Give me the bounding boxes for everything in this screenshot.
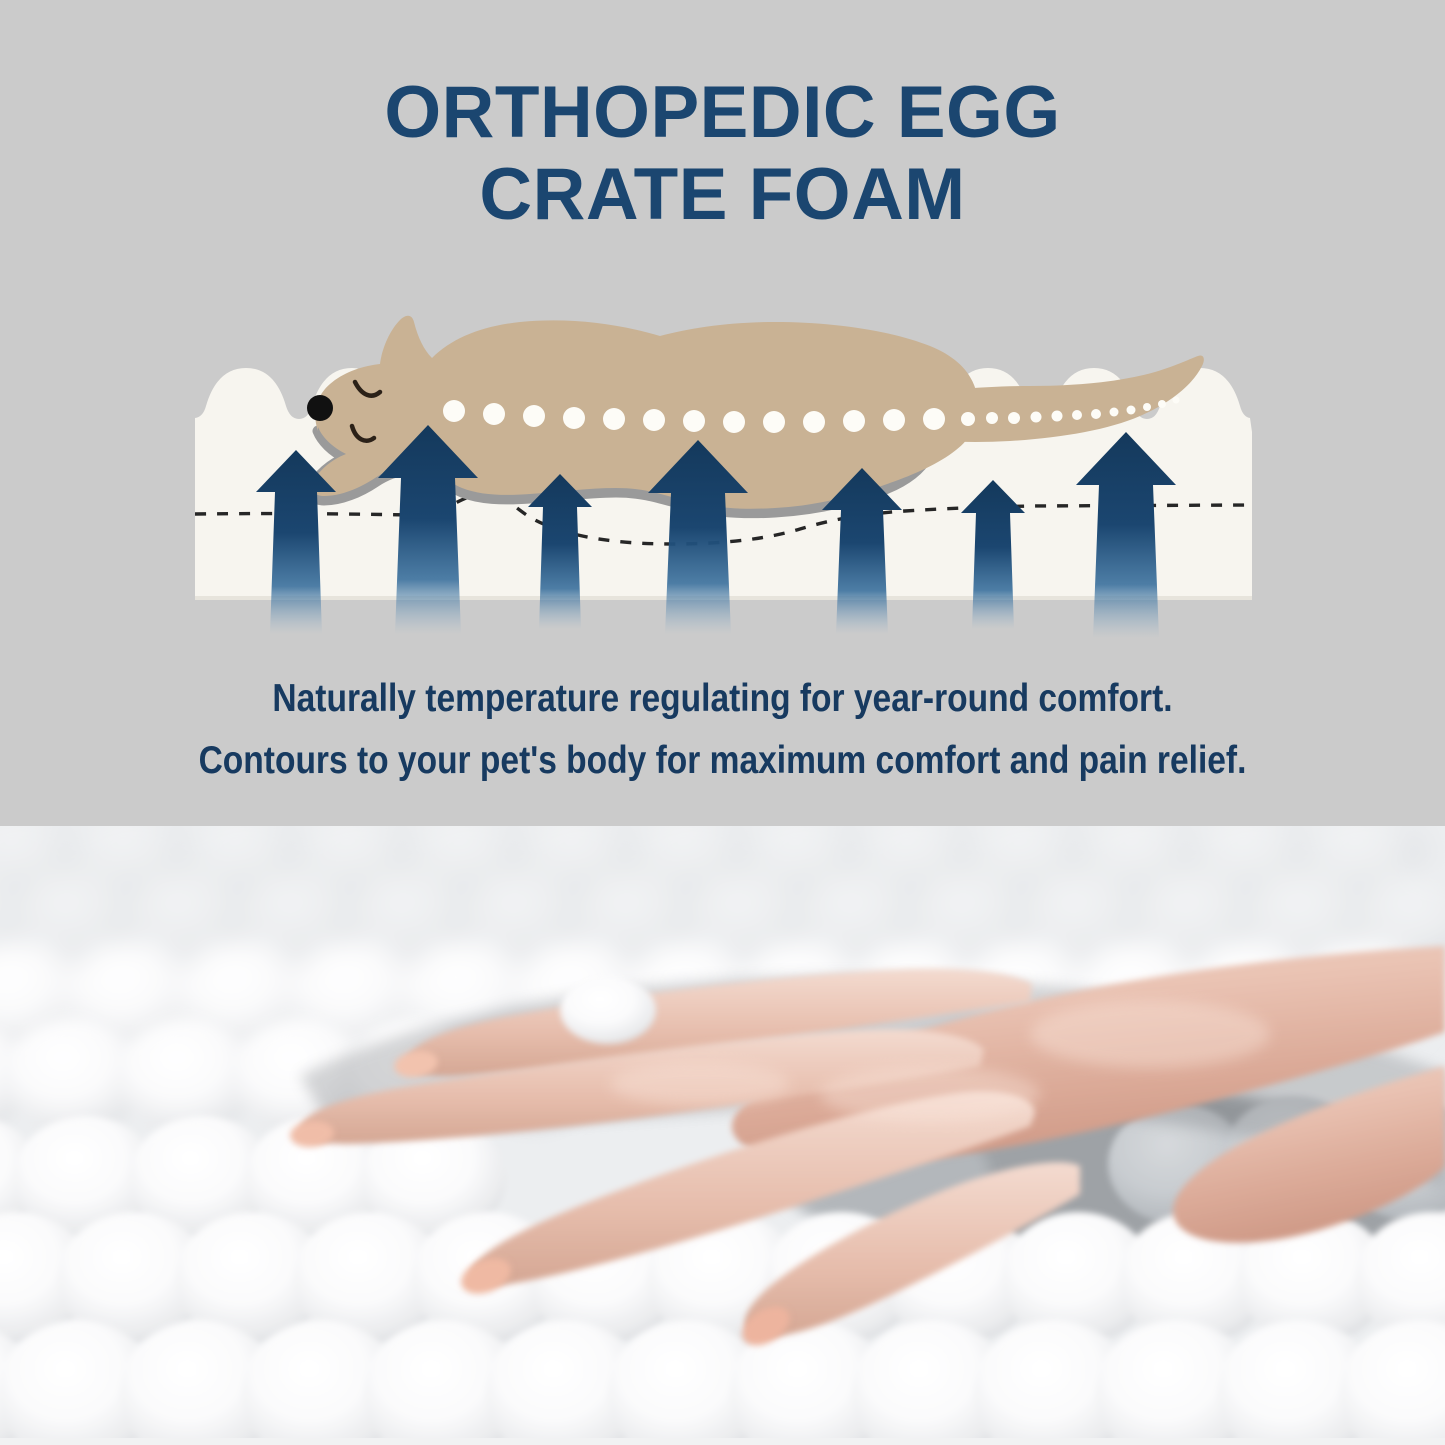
page-title: ORTHOPEDIC EGG CRATE FOAM	[0, 72, 1445, 236]
infographic-panel: ORTHOPEDIC EGG CRATE FOAM	[0, 0, 1445, 826]
feature-caption: Naturally temperature regulating for yea…	[101, 668, 1344, 792]
foam-bump-between-fingers	[560, 976, 656, 1044]
dog-nose	[307, 395, 333, 421]
foam-photo	[0, 826, 1445, 1445]
caption-line-1: Naturally temperature regulating for yea…	[101, 668, 1344, 730]
caption-line-2: Contours to your pet's body for maximum …	[101, 730, 1344, 792]
foam-support-illustration	[0, 286, 1445, 646]
headline-line-1: ORTHOPEDIC EGG	[384, 72, 1060, 153]
product-feature-graphic: ORTHOPEDIC EGG CRATE FOAM	[0, 0, 1445, 1445]
headline-line-2: CRATE FOAM	[0, 154, 1445, 236]
